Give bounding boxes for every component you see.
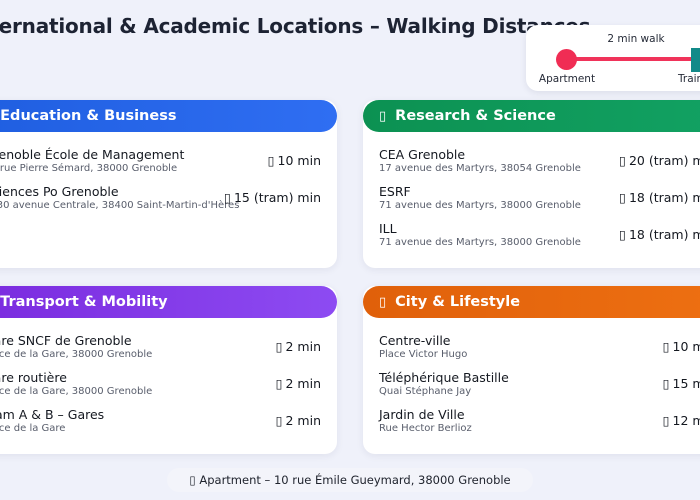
walk-icon: ▯ (619, 190, 626, 205)
place-info: Gare SNCF de Grenoble Place de la Gare, … (0, 333, 152, 360)
place-address: 71 avenue des Martyrs, 38000 Grenoble (379, 200, 581, 211)
card-header-transport-mobility: ▯ Transport & Mobility (0, 286, 337, 318)
walk-icon: ▯ (663, 376, 670, 391)
place-time-value: 10 min (278, 153, 321, 168)
place-name: Jardin de Ville (379, 407, 472, 422)
list-item[interactable]: Gare routière Place de la Gare, 38000 Gr… (0, 365, 321, 402)
place-address: 17 avenue des Martyrs, 38054 Grenoble (379, 163, 581, 174)
place-info: CEA Grenoble 17 avenue des Martyrs, 3805… (379, 147, 581, 174)
list-item[interactable]: CEA Grenoble 17 avenue des Martyrs, 3805… (379, 142, 700, 179)
apartment-node-label: Apartment (532, 73, 602, 85)
place-name: Tram A & B – Gares (0, 407, 104, 422)
walk-icon: ▯ (663, 413, 670, 428)
card-body: Grenoble École de Management 12 rue Pier… (0, 132, 337, 216)
place-time-value: 18 (tram) min (629, 190, 700, 205)
list-item[interactable]: Grenoble École de Management 12 rue Pier… (0, 142, 321, 179)
walk-duration-label: 2 min walk (526, 33, 700, 45)
place-address: 71 avenue des Martyrs, 38000 Grenoble (379, 237, 581, 248)
place-address: Quai Stéphane Jay (379, 386, 509, 397)
place-name: Grenoble École de Management (0, 147, 184, 162)
apartment-address-text: Apartment – 10 rue Émile Gueymard, 38000… (199, 473, 510, 487)
place-address: Place de la Gare, 38000 Grenoble (0, 349, 152, 360)
place-time: ▯18 (tram) min (619, 227, 700, 242)
card-header-city-lifestyle: ▯ City & Lifestyle (363, 286, 700, 318)
place-address: 12 rue Pierre Sémard, 38000 Grenoble (0, 163, 184, 174)
page-header: International & Academic Locations – Wal… (0, 0, 700, 100)
place-info: Téléphérique Bastille Quai Stéphane Jay (379, 370, 509, 397)
card-title: Research & Science (395, 108, 556, 124)
place-name: Centre-ville (379, 333, 467, 348)
place-time-value: 15 min (673, 376, 700, 391)
footer: ▯ Apartment – 10 rue Émile Gueymard, 380… (0, 468, 700, 492)
walk-icon: ▯ (663, 339, 670, 354)
place-time-value: 2 min (286, 413, 322, 428)
list-item[interactable]: Sciences Po Grenoble 1030 avenue Central… (0, 179, 321, 216)
place-info: Centre-ville Place Victor Hugo (379, 333, 467, 360)
location-card-grid: ▯ Education & Business Grenoble École de… (0, 100, 700, 454)
list-item[interactable]: ILL 71 avenue des Martyrs, 38000 Grenobl… (379, 216, 700, 253)
walk-icon: ▯ (224, 190, 231, 205)
place-time: ▯2 min (276, 376, 321, 391)
card-title: Education & Business (0, 108, 176, 124)
train-station-node-icon (691, 48, 700, 72)
place-address: Place de la Gare, 38000 Grenoble (0, 386, 152, 397)
place-time: ▯15 min (663, 376, 700, 391)
place-info: Sciences Po Grenoble 1030 avenue Central… (0, 184, 214, 211)
home-pin-icon: ▯ (189, 473, 195, 487)
apartment-address-badge: ▯ Apartment – 10 rue Émile Gueymard, 380… (167, 468, 532, 492)
card-research-science: ▯ Research & Science CEA Grenoble 17 ave… (363, 100, 700, 268)
walk-icon: ▯ (276, 339, 283, 354)
place-time-value: 12 min (673, 413, 700, 428)
place-time: ▯20 (tram) min (619, 153, 700, 168)
card-title: Transport & Mobility (0, 294, 167, 310)
place-name: Gare routière (0, 370, 152, 385)
walk-icon: ▯ (268, 153, 275, 168)
list-item[interactable]: ESRF 71 avenue des Martyrs, 38000 Grenob… (379, 179, 700, 216)
place-address: Place de la Gare (0, 423, 104, 434)
list-item[interactable]: Centre-ville Place Victor Hugo ▯10 min (379, 328, 700, 365)
place-address: Place Victor Hugo (379, 349, 467, 360)
apartment-node-icon (556, 49, 577, 70)
place-name: Téléphérique Bastille (379, 370, 509, 385)
card-body: CEA Grenoble 17 avenue des Martyrs, 3805… (363, 132, 700, 253)
place-time-value: 20 (tram) min (629, 153, 700, 168)
place-info: Tram A & B – Gares Place de la Gare (0, 407, 104, 434)
place-info: ILL 71 avenue des Martyrs, 38000 Grenobl… (379, 221, 581, 248)
list-item[interactable]: Tram A & B – Gares Place de la Gare ▯2 m… (0, 402, 321, 439)
walk-connector-line (568, 57, 698, 61)
walk-icon: ▯ (619, 153, 626, 168)
place-time-value: 10 min (673, 339, 700, 354)
place-time: ▯10 min (268, 153, 321, 168)
card-body: Gare SNCF de Grenoble Place de la Gare, … (0, 318, 337, 439)
place-time-value: 15 (tram) min (234, 190, 321, 205)
card-city-lifestyle: ▯ City & Lifestyle Centre-ville Place Vi… (363, 286, 700, 454)
place-time: ▯2 min (276, 339, 321, 354)
walk-icon: ▯ (276, 376, 283, 391)
card-header-education-business: ▯ Education & Business (0, 100, 337, 132)
place-name: ILL (379, 221, 581, 236)
place-name: ESRF (379, 184, 581, 199)
microscope-icon: ▯ (379, 110, 386, 123)
place-time: ▯15 (tram) min (224, 190, 321, 205)
place-name: Gare SNCF de Grenoble (0, 333, 152, 348)
place-time-value: 18 (tram) min (629, 227, 700, 242)
list-item[interactable]: Téléphérique Bastille Quai Stéphane Jay … (379, 365, 700, 402)
card-body: Centre-ville Place Victor Hugo ▯10 min T… (363, 318, 700, 439)
walk-icon: ▯ (276, 413, 283, 428)
place-address: 1030 avenue Centrale, 38400 Saint-Martin… (0, 200, 214, 211)
place-name: CEA Grenoble (379, 147, 581, 162)
place-info: Grenoble École de Management 12 rue Pier… (0, 147, 184, 174)
card-header-research-science: ▯ Research & Science (363, 100, 700, 132)
list-item[interactable]: Gare SNCF de Grenoble Place de la Gare, … (0, 328, 321, 365)
place-address: Rue Hector Berlioz (379, 423, 472, 434)
card-transport-mobility: ▯ Transport & Mobility Gare SNCF de Gren… (0, 286, 337, 454)
walk-icon: ▯ (619, 227, 626, 242)
place-info: ESRF 71 avenue des Martyrs, 38000 Grenob… (379, 184, 581, 211)
place-time: ▯10 min (663, 339, 700, 354)
walk-distance-widget: 2 min walk Apartment Train Station (526, 25, 700, 91)
place-name: Sciences Po Grenoble (0, 184, 214, 199)
list-item[interactable]: Jardin de Ville Rue Hector Berlioz ▯12 m… (379, 402, 700, 439)
place-info: Jardin de Ville Rue Hector Berlioz (379, 407, 472, 434)
place-time: ▯18 (tram) min (619, 190, 700, 205)
place-time: ▯2 min (276, 413, 321, 428)
place-time: ▯12 min (663, 413, 700, 428)
city-icon: ▯ (379, 296, 386, 309)
place-time-value: 2 min (286, 376, 322, 391)
card-title: City & Lifestyle (395, 294, 520, 310)
place-time-value: 2 min (286, 339, 322, 354)
place-info: Gare routière Place de la Gare, 38000 Gr… (0, 370, 152, 397)
page-root: International & Academic Locations – Wal… (0, 0, 700, 500)
train-station-node-label: Train Station (678, 73, 700, 85)
card-education-business: ▯ Education & Business Grenoble École de… (0, 100, 337, 268)
